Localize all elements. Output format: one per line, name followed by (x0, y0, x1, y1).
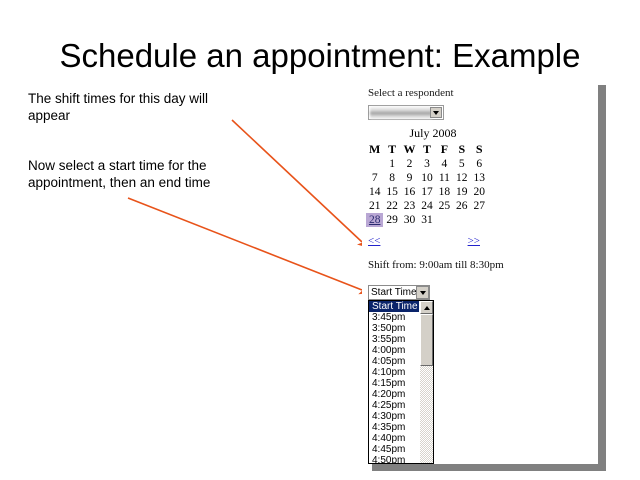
calendar-week-row: 78910111213 (366, 171, 488, 185)
calendar-day-7[interactable]: 7 (366, 171, 383, 185)
page-title: Schedule an appointment: Example (0, 38, 640, 74)
calendar-day-15[interactable]: 15 (383, 185, 400, 199)
calendar-week-row: 21222324252627 (366, 199, 488, 213)
start-time-option[interactable]: 4:45pm (369, 444, 421, 455)
callout-text-shift-times: The shift times for this day will appear (28, 90, 248, 124)
calendar-weekday-1: T (383, 142, 400, 157)
start-time-select[interactable]: Start Time (368, 285, 430, 300)
calendar-day-27[interactable]: 27 (471, 199, 489, 213)
calendar-widget: July 2008 MTWTFSS 1234567891011121314151… (366, 126, 488, 227)
calendar-day-9[interactable]: 9 (401, 171, 418, 185)
calendar-week-row: 28293031 (366, 213, 488, 227)
embedded-screenshot: Select a respondent July 2008 MTWTFSS 12… (362, 82, 606, 472)
calendar-day-11[interactable]: 11 (436, 171, 453, 185)
calendar-day-10[interactable]: 10 (418, 171, 435, 185)
start-time-option[interactable]: 4:35pm (369, 422, 421, 433)
arrow-to-start-time (128, 198, 362, 290)
calendar-weekday-6: S (471, 142, 489, 157)
calendar-nav: << >> (368, 235, 480, 249)
calendar-day-3[interactable]: 3 (418, 157, 435, 171)
calendar-table: MTWTFSS 12345678910111213141516171819202… (366, 142, 488, 227)
calendar-day-5[interactable]: 5 (453, 157, 470, 171)
respondent-selected-value (370, 107, 432, 119)
calendar-day-8[interactable]: 8 (383, 171, 400, 185)
calendar-day-22[interactable]: 22 (383, 199, 400, 213)
calendar-day-25[interactable]: 25 (436, 199, 453, 213)
start-time-option[interactable]: 4:10pm (369, 367, 421, 378)
start-time-option[interactable]: 3:45pm (369, 312, 421, 323)
calendar-day-20[interactable]: 20 (471, 185, 489, 199)
calendar-day-1[interactable]: 1 (383, 157, 400, 171)
start-time-option[interactable]: 4:00pm (369, 345, 421, 356)
start-time-selected-value: Start Time (371, 287, 417, 299)
calendar-weekday-2: W (401, 142, 418, 157)
calendar-day-29[interactable]: 29 (383, 213, 400, 227)
calendar-day-24[interactable]: 24 (418, 199, 435, 213)
calendar-day-23[interactable]: 23 (401, 199, 418, 213)
calendar-week-row: 14151617181920 (366, 185, 488, 199)
calendar-day-19[interactable]: 19 (453, 185, 470, 199)
respondent-select[interactable] (368, 105, 444, 120)
calendar-body: 1234567891011121314151617181920212223242… (366, 157, 488, 227)
calendar-day-28[interactable]: 28 (366, 213, 383, 227)
calendar-day-31[interactable]: 31 (418, 213, 435, 227)
web-app-panel: Select a respondent July 2008 MTWTFSS 12… (362, 82, 598, 464)
calendar-weekday-row: MTWTFSS (366, 142, 488, 157)
calendar-day-16[interactable]: 16 (401, 185, 418, 199)
calendar-day-empty (471, 213, 489, 227)
calendar-week-row: 123456 (366, 157, 488, 171)
chevron-down-icon[interactable] (430, 107, 442, 118)
calendar-day-12[interactable]: 12 (453, 171, 470, 185)
respondent-label: Select a respondent (368, 87, 454, 99)
start-time-option[interactable]: 4:50pm (369, 455, 421, 464)
scrollbar-thumb[interactable] (420, 314, 433, 366)
calendar-weekday-3: T (418, 142, 435, 157)
calendar-day-4[interactable]: 4 (436, 157, 453, 171)
listbox-scrollbar[interactable] (419, 301, 433, 463)
calendar-day-26[interactable]: 26 (453, 199, 470, 213)
calendar-day-14[interactable]: 14 (366, 185, 383, 199)
calendar-day-6[interactable]: 6 (471, 157, 489, 171)
panel-shadow-right (598, 85, 606, 470)
calendar-month-title: July 2008 (366, 126, 488, 140)
start-time-options: Start Time3:45pm3:50pm3:55pm4:00pm4:05pm… (369, 301, 421, 464)
calendar-day-empty (436, 213, 453, 227)
start-time-option-list[interactable]: Start Time3:45pm3:50pm3:55pm4:00pm4:05pm… (368, 300, 434, 464)
chevron-up-icon[interactable] (420, 301, 433, 314)
callout-text-select-start-time: Now select a start time for the appointm… (28, 157, 253, 191)
calendar-prev-link[interactable]: << (368, 235, 380, 247)
calendar-next-link[interactable]: >> (468, 235, 480, 247)
panel-shadow-bottom (372, 463, 606, 471)
calendar-day-30[interactable]: 30 (401, 213, 418, 227)
calendar-day-empty (366, 157, 383, 171)
shift-hours-text: Shift from: 9:00am till 8:30pm (368, 259, 504, 271)
start-time-option[interactable]: 4:05pm (369, 356, 421, 367)
start-time-option[interactable]: Start Time (369, 301, 421, 312)
start-time-option[interactable]: 4:30pm (369, 411, 421, 422)
calendar-weekday-5: S (453, 142, 470, 157)
calendar-weekday-4: F (436, 142, 453, 157)
start-time-option[interactable]: 3:50pm (369, 323, 421, 334)
calendar-day-17[interactable]: 17 (418, 185, 435, 199)
chevron-down-icon[interactable] (416, 286, 429, 299)
start-time-option[interactable]: 4:20pm (369, 389, 421, 400)
calendar-day-2[interactable]: 2 (401, 157, 418, 171)
start-time-option[interactable]: 3:55pm (369, 334, 421, 345)
calendar-day-18[interactable]: 18 (436, 185, 453, 199)
start-time-option[interactable]: 4:15pm (369, 378, 421, 389)
calendar-day-21[interactable]: 21 (366, 199, 383, 213)
calendar-weekday-0: M (366, 142, 383, 157)
start-time-option[interactable]: 4:40pm (369, 433, 421, 444)
calendar-day-empty (453, 213, 470, 227)
slide-canvas: Schedule an appointment: Example The shi… (0, 0, 640, 480)
start-time-option[interactable]: 4:25pm (369, 400, 421, 411)
calendar-day-13[interactable]: 13 (471, 171, 489, 185)
